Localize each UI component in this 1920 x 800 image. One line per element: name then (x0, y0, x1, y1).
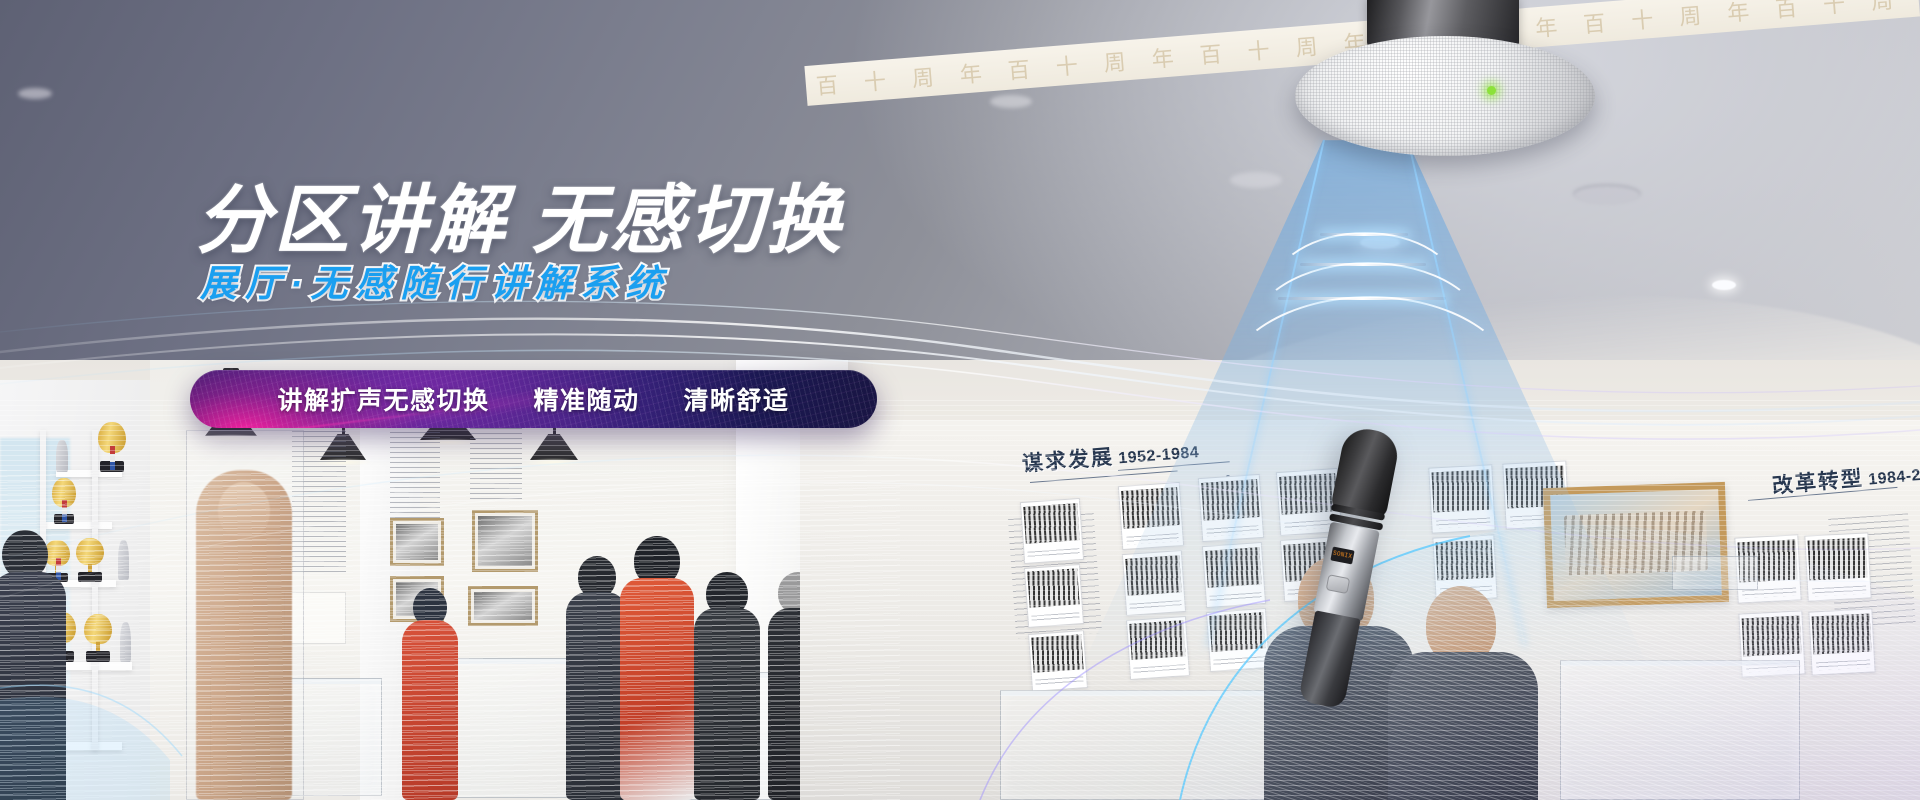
framed-photo (468, 586, 538, 626)
wall-photo (1804, 532, 1871, 601)
ceiling-downlight (1573, 184, 1641, 204)
microphone-handle (1298, 610, 1361, 709)
ceiling-downlight (1230, 172, 1282, 188)
feature-item-1: 讲解扩声无感切换 (277, 381, 489, 417)
banner-stage: 百 十 周 年 百 十 周 年 百 十 周 年 百 十 周 年 百 十 周 年 … (0, 0, 1920, 800)
wall-photo (1028, 630, 1088, 692)
wall-photo (1020, 498, 1084, 564)
visitor (402, 588, 458, 800)
statuette-award (118, 540, 129, 580)
wall-text-panel (470, 418, 522, 502)
ceiling-downlight (990, 95, 1032, 108)
statuette-award (120, 622, 131, 662)
microphone-body (1313, 522, 1380, 622)
feature-pill-items: 讲解扩声无感切换 精准随动 清晰舒适 (190, 370, 877, 428)
visitor (620, 536, 694, 800)
section-title-cn: 谋求发展 (1021, 446, 1115, 476)
trophy-ribbon (62, 500, 67, 522)
feature-item-3: 清晰舒适 (684, 381, 790, 417)
framed-photo (390, 518, 444, 566)
display-showcase (1560, 660, 1800, 800)
feature-item-2: 精准随动 (533, 381, 639, 417)
display-showcase (1672, 556, 1758, 590)
speaker-status-led (1487, 86, 1496, 95)
terracotta-statue (196, 470, 292, 800)
feature-pill[interactable]: 讲解扩声无感切换 精准随动 清晰舒适 (190, 370, 877, 428)
statuette-award (56, 440, 68, 472)
ceiling-downlight (1712, 280, 1736, 290)
visitor (694, 572, 760, 800)
framed-photo (472, 510, 538, 572)
section-title-years: 1984-2010 (1868, 465, 1920, 489)
visitor (0, 530, 66, 800)
visitor (566, 556, 628, 800)
ceiling-speaker (1295, 0, 1595, 172)
trophy-ribbon (110, 446, 115, 470)
sound-wave-highlight (1300, 263, 1426, 266)
shelf-divider (92, 430, 98, 750)
wall-photo (1808, 608, 1875, 675)
sound-wave-highlight (1320, 233, 1408, 236)
trophy (84, 614, 112, 662)
speaker-grille (1295, 36, 1595, 156)
sound-wave-highlight (1278, 297, 1446, 300)
wall-photo (1024, 564, 1084, 628)
trophy (76, 538, 104, 582)
ceiling-downlight (18, 88, 52, 99)
display-showcase (1000, 690, 1290, 800)
